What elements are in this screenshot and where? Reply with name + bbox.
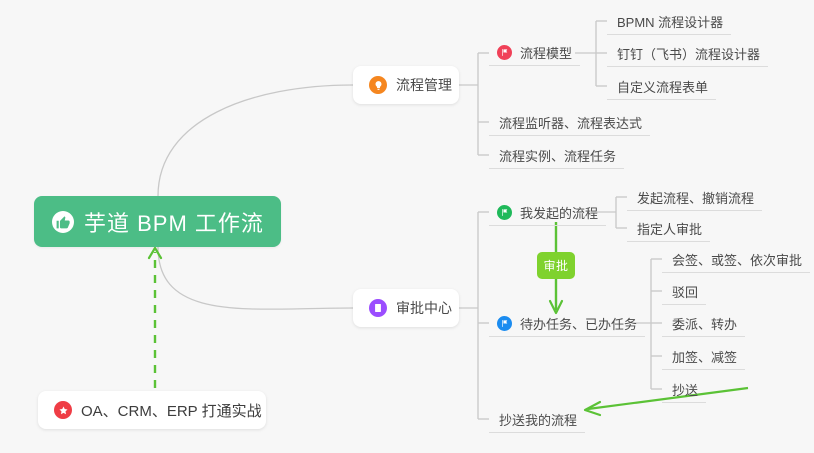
node-label-cc: 抄送 xyxy=(672,380,698,399)
mindmap-canvas: 芋道 BPM 工作流 流程管理 流程模型 BPMN 流程设计器 钉钉（飞书）流程… xyxy=(0,0,814,453)
node-label-process-listener: 流程监听器、流程表达式 xyxy=(499,113,642,132)
node-custom-process-form[interactable]: 自定义流程表单 xyxy=(607,73,716,100)
node-label-process-model: 流程模型 xyxy=(520,43,572,62)
node-reject[interactable]: 驳回 xyxy=(662,278,706,305)
node-label-bpmn-designer: BPMN 流程设计器 xyxy=(617,12,723,31)
link-root-to-process-mgmt xyxy=(158,85,353,196)
node-start-cancel-process[interactable]: 发起流程、撤销流程 xyxy=(627,184,762,211)
lightbulb-icon xyxy=(369,76,387,94)
node-cc[interactable]: 抄送 xyxy=(662,376,706,403)
annotation-arrow-integration xyxy=(149,248,161,388)
node-bpmn-designer[interactable]: BPMN 流程设计器 xyxy=(607,8,731,35)
node-label-countersign: 会签、或签、依次审批 xyxy=(672,250,802,269)
node-label-todo-done-tasks: 待办任务、已办任务 xyxy=(520,314,637,333)
node-process-model[interactable]: 流程模型 xyxy=(489,39,580,66)
branch-node-approval-center[interactable]: 审批中心 xyxy=(353,289,459,327)
node-label-delegate-transfer: 委派、转办 xyxy=(672,314,737,333)
node-label-custom-process-form: 自定义流程表单 xyxy=(617,77,708,96)
node-process-instance[interactable]: 流程实例、流程任务 xyxy=(489,142,624,169)
node-delegate-transfer[interactable]: 委派、转办 xyxy=(662,310,745,337)
node-label-add-remove-sign: 加签、减签 xyxy=(672,347,737,366)
flag-icon xyxy=(497,316,512,331)
node-assignee-approval[interactable]: 指定人审批 xyxy=(627,215,710,242)
branch-node-process-mgmt[interactable]: 流程管理 xyxy=(353,66,459,104)
node-label-start-cancel-process: 发起流程、撤销流程 xyxy=(637,188,754,207)
node-label-reject: 驳回 xyxy=(672,282,698,301)
root-label: 芋道 BPM 工作流 xyxy=(84,206,264,238)
node-dingtalk-feishu-designer[interactable]: 钉钉（飞书）流程设计器 xyxy=(607,40,768,67)
node-todo-done-tasks[interactable]: 待办任务、已办任务 xyxy=(489,310,645,337)
node-my-initiated[interactable]: 我发起的流程 xyxy=(489,199,606,226)
flag-icon xyxy=(497,45,512,60)
annotation-badge-label: 审批 xyxy=(543,257,568,274)
node-integration[interactable]: OA、CRM、ERP 打通实战 xyxy=(38,391,266,429)
node-label-dingtalk-feishu-designer: 钉钉（飞书）流程设计器 xyxy=(617,44,760,63)
branch-label-approval-center: 审批中心 xyxy=(396,298,452,318)
node-label-cc-to-me: 抄送我的流程 xyxy=(499,410,577,429)
node-label-my-initiated: 我发起的流程 xyxy=(520,203,598,222)
node-process-listener[interactable]: 流程监听器、流程表达式 xyxy=(489,109,650,136)
node-label-assignee-approval: 指定人审批 xyxy=(637,219,702,238)
node-label-integration: OA、CRM、ERP 打通实战 xyxy=(81,400,262,421)
thumbs-up-icon xyxy=(52,211,74,233)
node-countersign[interactable]: 会签、或签、依次审批 xyxy=(662,246,810,273)
node-add-remove-sign[interactable]: 加签、减签 xyxy=(662,343,745,370)
node-cc-to-me[interactable]: 抄送我的流程 xyxy=(489,406,585,433)
star-icon xyxy=(54,401,72,419)
document-icon xyxy=(369,299,387,317)
link-root-to-approval-center xyxy=(158,247,353,309)
flag-icon xyxy=(497,205,512,220)
annotation-badge-approval: 审批 xyxy=(537,252,575,279)
node-label-process-instance: 流程实例、流程任务 xyxy=(499,146,616,165)
branch-label-process-mgmt: 流程管理 xyxy=(396,75,452,95)
root-node[interactable]: 芋道 BPM 工作流 xyxy=(34,196,281,247)
